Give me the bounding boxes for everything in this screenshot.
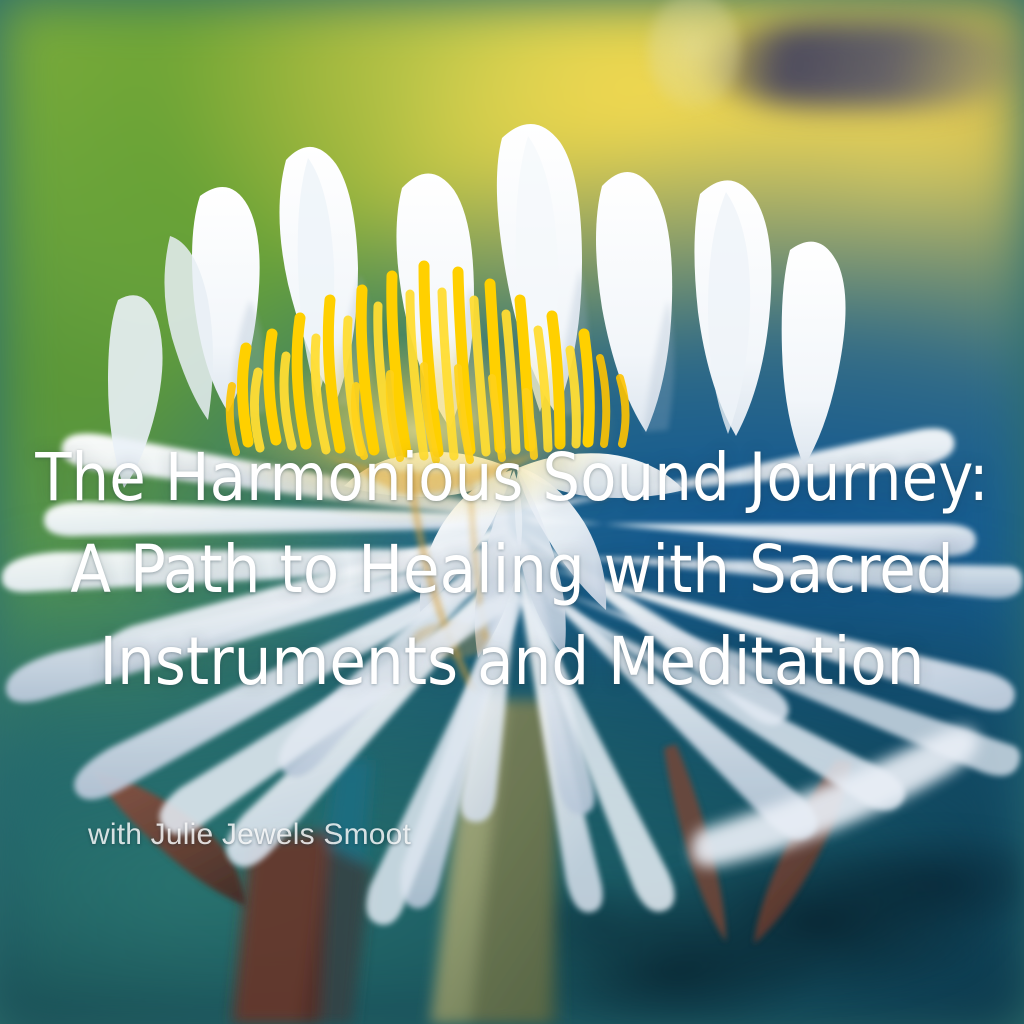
poster-image: The Harmonious Sound Journey: A Path to … [0, 0, 1024, 1024]
lotus-flower [0, 0, 1024, 1024]
